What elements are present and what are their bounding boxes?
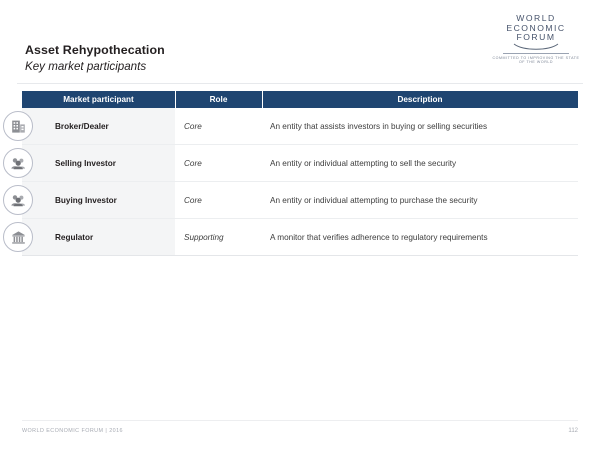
column-header-participant: Market participant	[22, 91, 175, 108]
cell-role: Core	[175, 182, 262, 218]
table-row: Regulator Supporting A monitor that veri…	[22, 219, 578, 256]
logo-word-forum: FORUM	[490, 33, 582, 43]
cell-participant: Buying Investor	[22, 182, 175, 218]
cell-description: An entity that assists investors in buyi…	[262, 108, 578, 144]
wef-logo: WORLD ECONOMIC FORUM COMMITTED TO IMPROV…	[490, 14, 582, 65]
role-label: Core	[184, 122, 202, 131]
role-label: Supporting	[184, 233, 224, 242]
role-label: Core	[184, 196, 202, 205]
logo-arc-icon	[490, 43, 582, 50]
description-label: A monitor that verifies adherence to reg…	[270, 233, 488, 242]
table-row: Buying Investor Core An entity or indivi…	[22, 182, 578, 219]
column-header-role: Role	[175, 91, 262, 108]
page-title: Asset Rehypothecation	[25, 43, 165, 57]
participant-label: Selling Investor	[55, 159, 116, 168]
title-divider	[17, 83, 583, 84]
cell-role: Core	[175, 108, 262, 144]
page-subtitle: Key market participants	[25, 60, 146, 73]
participant-label: Broker/Dealer	[55, 122, 109, 131]
logo-divider	[503, 53, 569, 54]
logo-tagline: COMMITTED TO IMPROVING THE STATE OF THE …	[490, 56, 582, 65]
cell-participant: Regulator	[22, 219, 175, 255]
cell-role: Supporting	[175, 219, 262, 255]
cell-role: Core	[175, 145, 262, 181]
office-building-icon	[3, 111, 33, 141]
footer-attribution: WORLD ECONOMIC FORUM | 2016	[22, 428, 123, 434]
cell-description: An entity or individual attempting to se…	[262, 145, 578, 181]
role-label: Core	[184, 159, 202, 168]
institution-columns-icon	[3, 222, 33, 252]
people-group-icon	[3, 148, 33, 178]
cell-description: An entity or individual attempting to pu…	[262, 182, 578, 218]
column-header-description: Description	[262, 91, 578, 108]
participant-label: Regulator	[55, 233, 93, 242]
cell-participant: Selling Investor	[22, 145, 175, 181]
page-number: 112	[568, 428, 578, 434]
description-label: An entity or individual attempting to se…	[270, 159, 456, 168]
people-group-icon	[3, 185, 33, 215]
table-header-row: Market participant Role Description	[22, 91, 578, 108]
cell-description: A monitor that verifies adherence to reg…	[262, 219, 578, 255]
description-label: An entity or individual attempting to pu…	[270, 196, 478, 205]
participant-label: Buying Investor	[55, 196, 117, 205]
description-label: An entity that assists investors in buyi…	[270, 122, 487, 131]
table-row: Broker/Dealer Core An entity that assist…	[22, 108, 578, 145]
table-row: Selling Investor Core An entity or indiv…	[22, 145, 578, 182]
slide-canvas: WORLD ECONOMIC FORUM COMMITTED TO IMPROV…	[0, 0, 600, 450]
footer-divider	[22, 420, 578, 421]
cell-participant: Broker/Dealer	[22, 108, 175, 144]
market-participants-table: Market participant Role Description	[22, 91, 578, 256]
